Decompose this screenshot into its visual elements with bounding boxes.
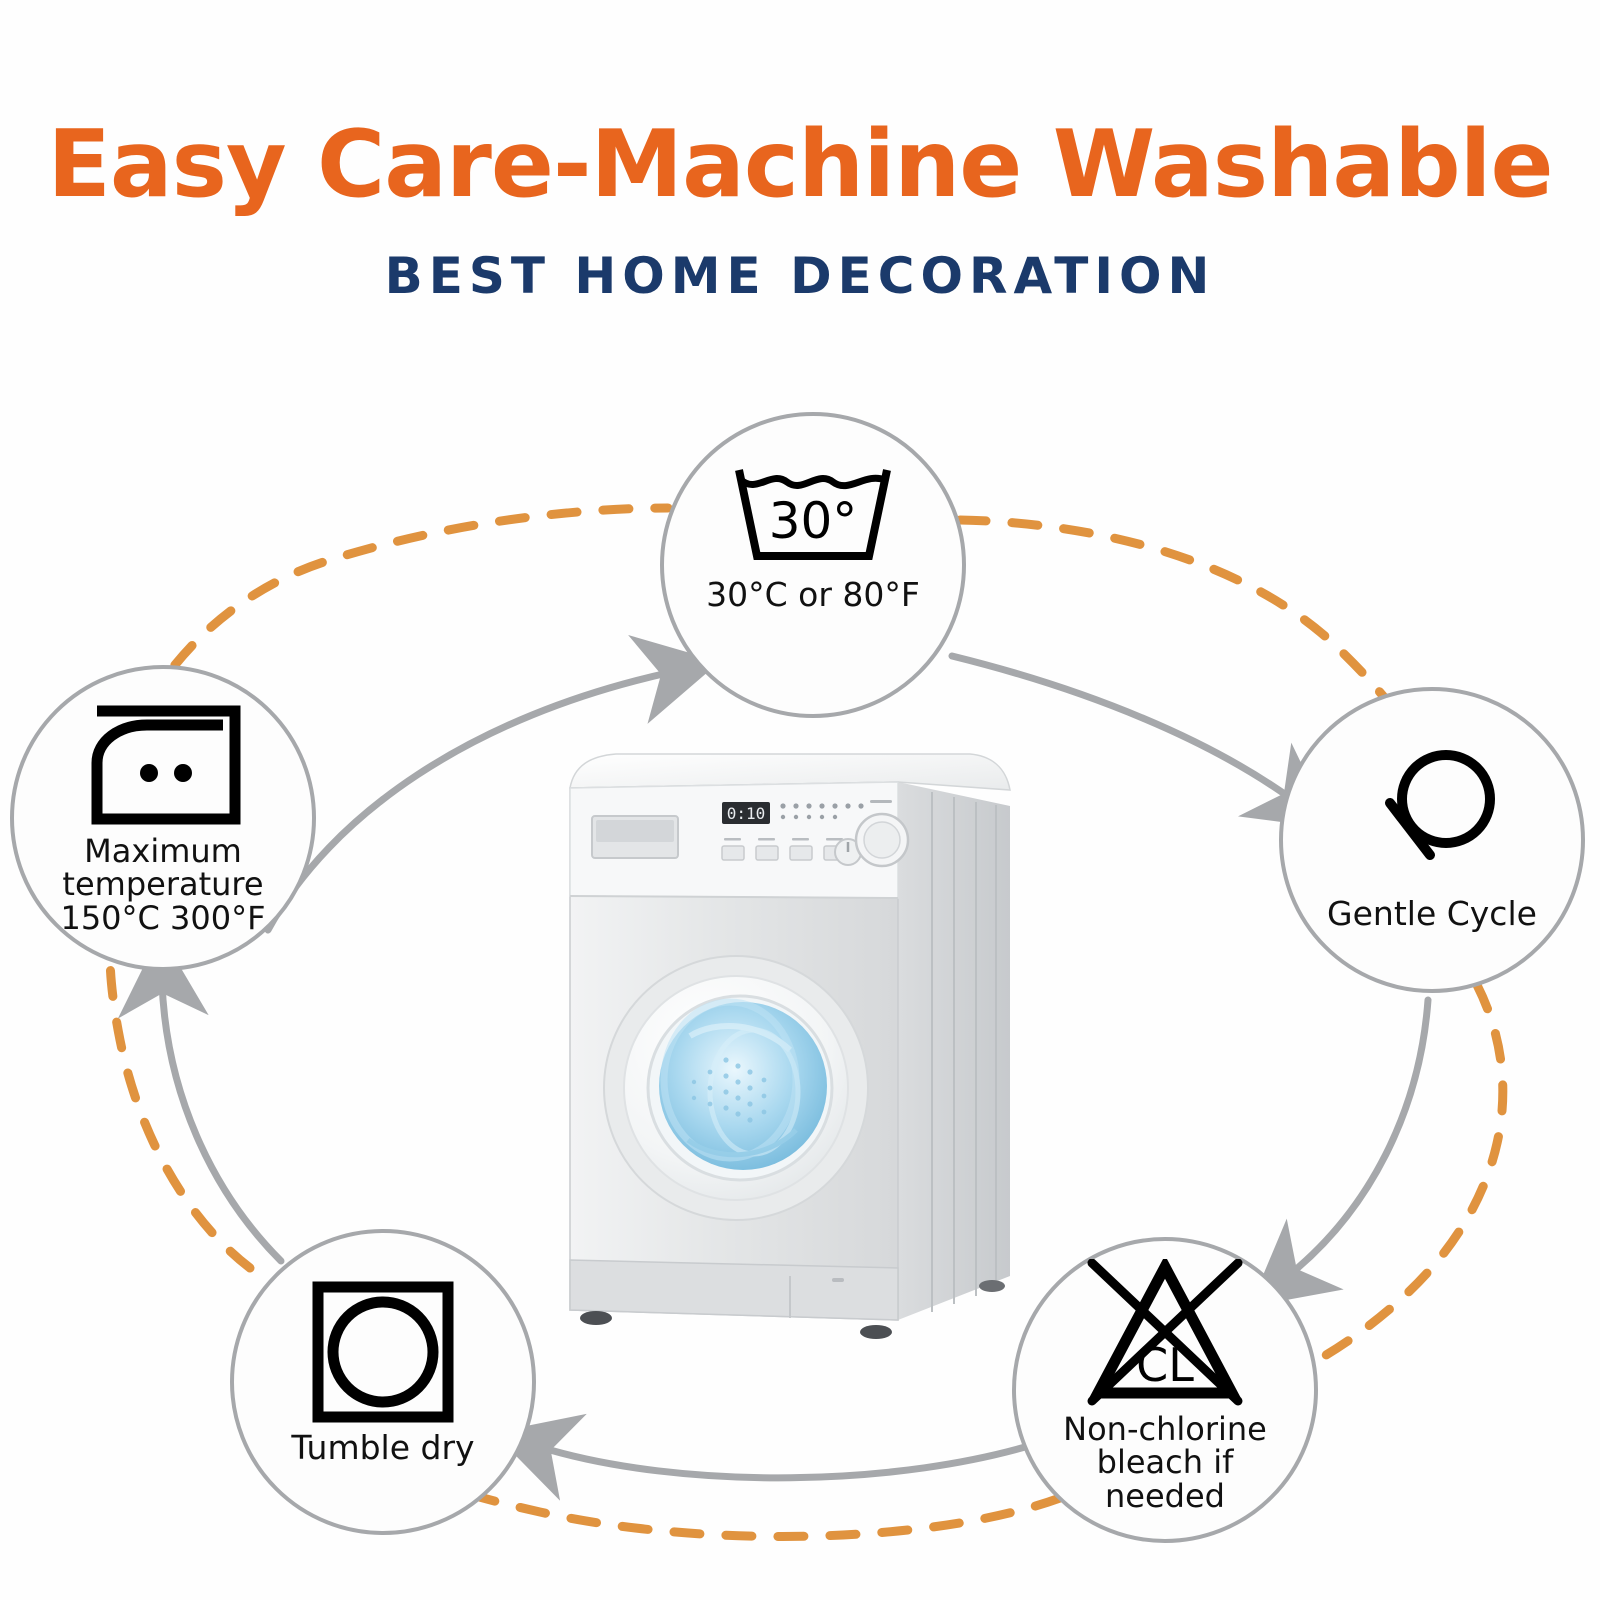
filter-latch <box>832 1278 844 1282</box>
wash-tub-30-icon: 30° <box>723 460 903 572</box>
machine-foot-left <box>580 1311 612 1325</box>
page-title: Easy Care-Machine Washable <box>0 0 1600 211</box>
machine-side-panel <box>898 782 1010 1320</box>
gentle-cycle-icon <box>1352 743 1512 891</box>
node-iron-max-temperature[interactable]: Maximum temperature 150°C 300°F <box>10 665 316 971</box>
node-wash-temperature[interactable]: 30° 30°C or 80°F <box>660 412 966 718</box>
no-chlorine-bleach-triangle-icon: CL <box>1080 1259 1250 1407</box>
node-tumble-dry[interactable]: Tumble dry <box>230 1229 536 1535</box>
node-tumble-dry-label: Tumble dry <box>291 1431 474 1465</box>
node-non-chlorine-bleach-label: Non-chlorine bleach if needed <box>1063 1413 1267 1513</box>
tumble-dry-square-circle-icon <box>310 1279 456 1425</box>
header: Easy Care-Machine Washable BEST HOME DEC… <box>0 0 1600 305</box>
node-non-chlorine-bleach[interactable]: CL Non-chlorine bleach if needed <box>1012 1237 1318 1543</box>
drawer-handle <box>596 820 674 842</box>
infographic-page: Easy Care-Machine Washable BEST HOME DEC… <box>0 0 1600 1600</box>
page-subtitle: BEST HOME DECORATION <box>0 211 1600 305</box>
iron-dot-2 <box>174 764 192 782</box>
wash-tub-temp-text: 30° <box>769 492 858 550</box>
led-display-value: 0:10 <box>727 804 766 823</box>
node-gentle-cycle[interactable]: Gentle Cycle <box>1279 687 1585 993</box>
node-iron-max-temperature-label: Maximum temperature 150°C 300°F <box>60 835 265 935</box>
machine-foot-right <box>860 1325 892 1339</box>
iron-dot-1 <box>140 764 158 782</box>
panel-print-logo <box>870 800 892 803</box>
node-gentle-cycle-label: Gentle Cycle <box>1327 897 1537 931</box>
iron-two-dots-icon <box>75 701 251 829</box>
node-wash-temperature-label: 30°C or 80°F <box>706 578 920 612</box>
washing-machine-image: 0:10 <box>540 720 1040 1360</box>
program-dial-inner <box>864 822 900 858</box>
machine-plinth <box>570 1260 898 1320</box>
